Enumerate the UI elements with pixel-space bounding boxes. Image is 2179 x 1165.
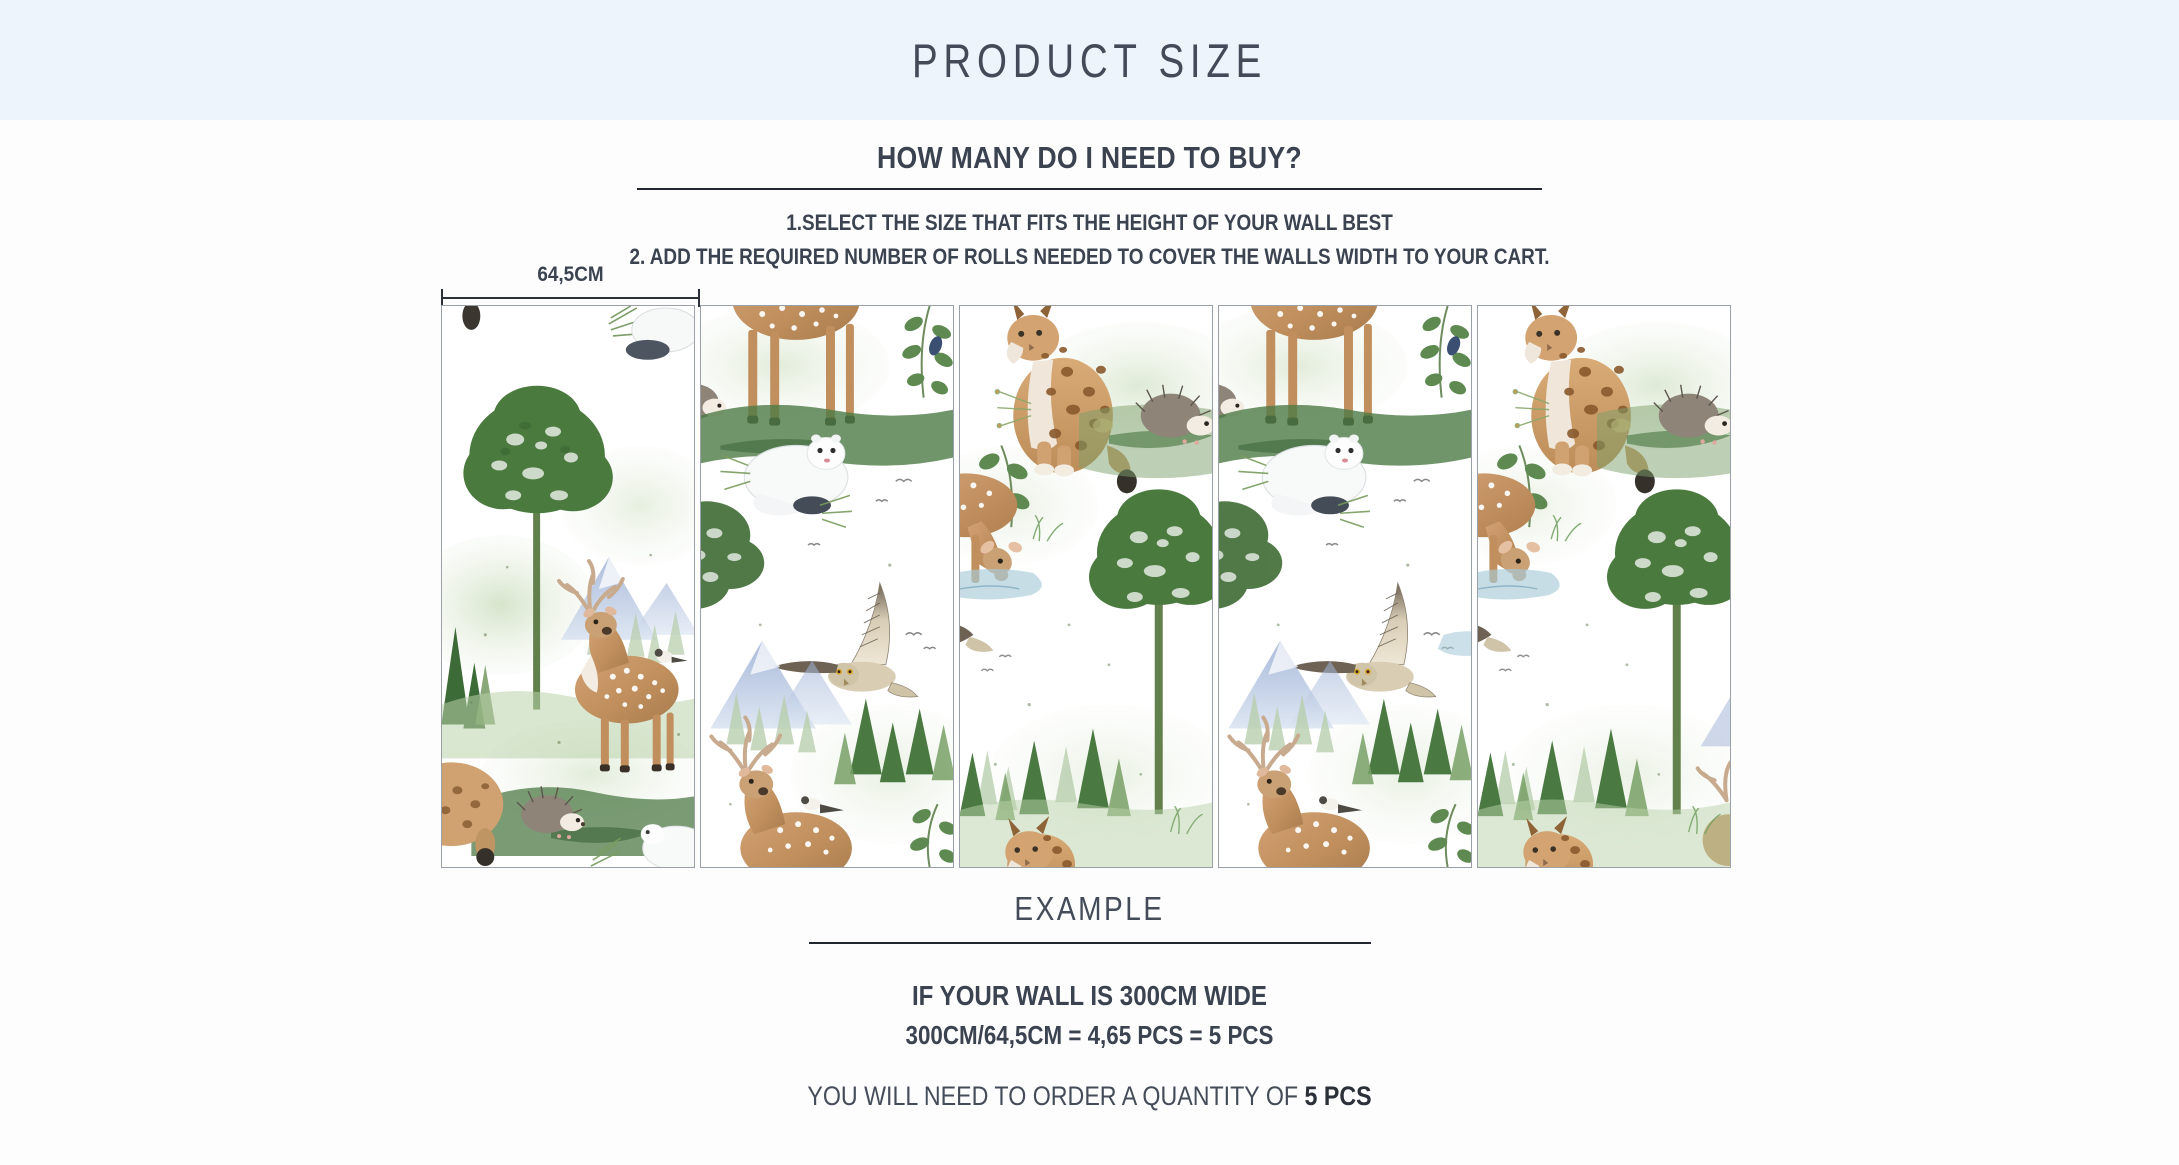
wallpaper-panel-1[interactable] <box>441 305 695 868</box>
wallpaper-pattern-variant-c <box>960 306 1212 867</box>
wallpaper-pattern-variant-b-repeat <box>1219 306 1471 867</box>
wallpaper-panel-5[interactable] <box>1477 305 1731 868</box>
example-calculation: 300CM/64,5CM = 4,65 PCS = 5 PCS <box>153 1020 2027 1051</box>
wallpaper-panel-4[interactable] <box>1218 305 1472 868</box>
example-title: EXAMPLE <box>163 890 2015 928</box>
page-header: PRODUCT SIZE <box>0 0 2179 120</box>
product-size-page: PRODUCT SIZE HOW MANY DO I NEED TO BUY? … <box>0 0 2179 1165</box>
instructions-heading: HOW MANY DO I NEED TO BUY? <box>153 140 2027 176</box>
instruction-step-2: 2. ADD THE REQUIRED NUMBER OF ROLLS NEED… <box>153 244 2027 270</box>
dimension-line <box>441 297 700 299</box>
example-conclusion: YOU WILL NEED TO ORDER A QUANTITY OF 5 P… <box>153 1081 2027 1112</box>
ermine-motif <box>641 824 694 867</box>
wallpaper-panel-strip <box>441 305 1731 868</box>
dimension-label: 64,5CM <box>454 263 687 287</box>
wallpaper-pattern-variant-a <box>442 306 694 867</box>
wallpaper-panel-3[interactable] <box>959 305 1213 868</box>
example-divider <box>809 942 1371 944</box>
instructions-block: HOW MANY DO I NEED TO BUY? 1.SELECT THE … <box>0 120 2179 270</box>
wallpaper-panel-2[interactable] <box>700 305 954 868</box>
instruction-step-1: 1.SELECT THE SIZE THAT FITS THE HEIGHT O… <box>153 210 2027 236</box>
dimension-annotation: 64,5CM <box>441 263 700 308</box>
example-conclusion-prefix: YOU WILL NEED TO ORDER A QUANTITY OF <box>807 1081 1304 1111</box>
wallpaper-pattern-variant-b <box>701 306 953 867</box>
example-block: EXAMPLE IF YOUR WALL IS 300CM WIDE 300CM… <box>0 890 2179 1112</box>
page-title: PRODUCT SIZE <box>912 33 1267 88</box>
heading-divider <box>637 188 1542 190</box>
wallpaper-pattern-variant-c-repeat <box>1478 306 1730 867</box>
example-wall-width: IF YOUR WALL IS 300CM WIDE <box>153 980 2027 1012</box>
example-conclusion-quantity: 5 PCS <box>1305 1081 1372 1111</box>
